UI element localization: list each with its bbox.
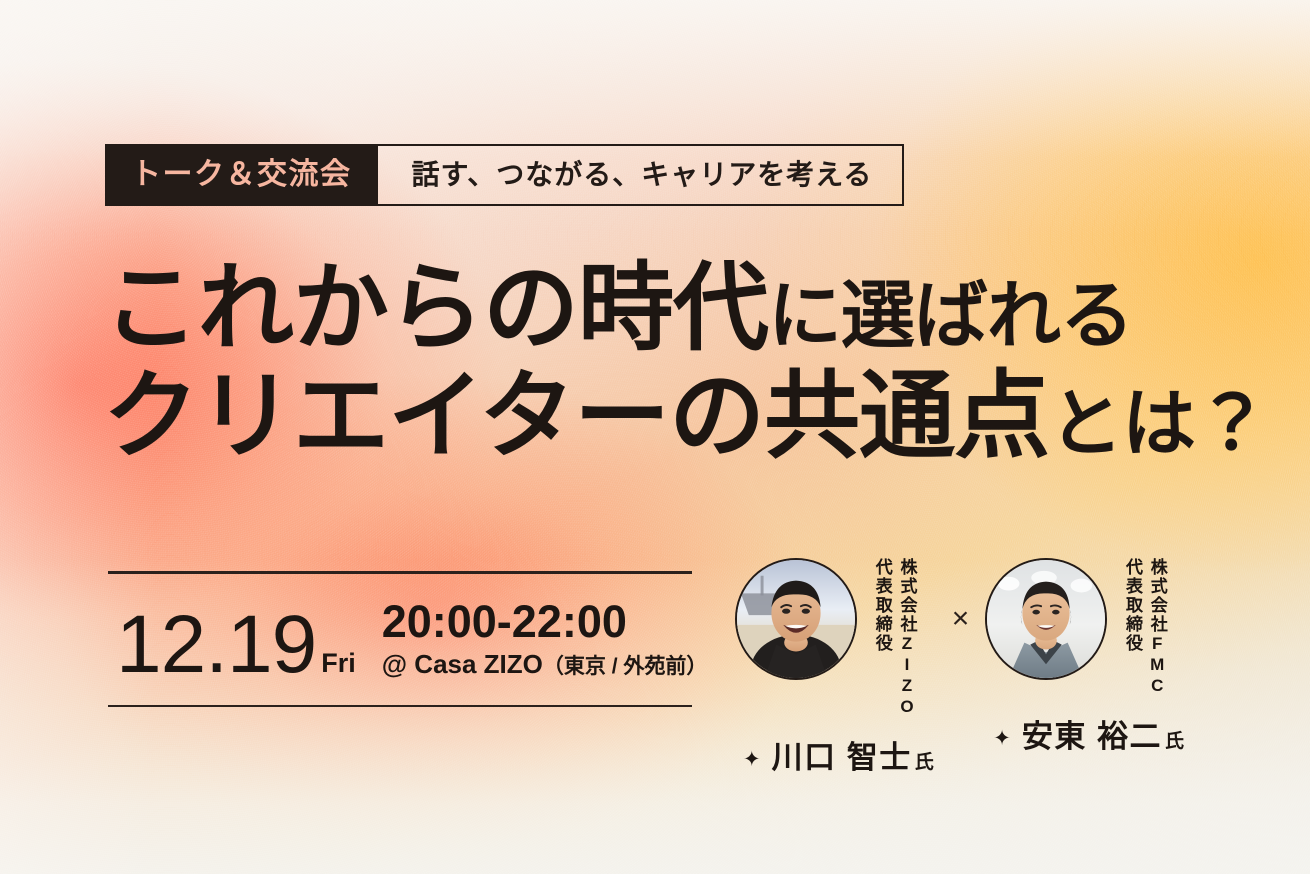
- avatar: [985, 558, 1107, 680]
- tagline-badge: 話す、つながる、キャリアを考える: [378, 144, 905, 206]
- speaker-role: 代表取締役: [871, 558, 892, 718]
- speaker-title: 株式会社FMC 代表取締役: [1117, 558, 1166, 697]
- sparkle-icon: ✦: [993, 728, 1011, 749]
- speaker-name-suffix: 氏: [915, 747, 934, 774]
- speakers-section: 株式会社ZIZO 代表取締役 ✦ 川口 智士 氏 ×: [735, 558, 1184, 777]
- headline-line-1-tail: に選ばれる: [768, 274, 1133, 357]
- speaker-name: 安東 裕二: [1022, 711, 1162, 756]
- badge-row: トーク＆交流会 話す、つながる、キャリアを考える: [105, 144, 904, 206]
- banner-content: トーク＆交流会 話す、つながる、キャリアを考える これからの時代に選ばれる クリ…: [0, 0, 1310, 874]
- speaker-name-suffix: 氏: [1165, 726, 1184, 753]
- event-venue-area: （東京 / 外苑前）: [543, 655, 708, 678]
- event-banner: トーク＆交流会 話す、つながる、キャリアを考える これからの時代に選ばれる クリ…: [0, 0, 1310, 874]
- speaker-top: 株式会社ZIZO 代表取締役: [735, 558, 916, 718]
- speaker-role: 代表取締役: [1121, 558, 1142, 697]
- avatar: [735, 558, 857, 680]
- headline-line-1: これからの時代に選ばれる: [103, 258, 1268, 360]
- speaker-company: 株式会社ZIZO: [896, 558, 917, 718]
- speaker-name-row: ✦ 安東 裕二 氏: [993, 711, 1184, 756]
- page-title: これからの時代に選ばれる クリエイターの共通点とは？: [103, 258, 1268, 468]
- speaker-name-row: ✦ 川口 智士 氏: [743, 732, 934, 777]
- speaker-top: 株式会社FMC 代表取締役: [985, 558, 1166, 697]
- headline-line-1-emphasis: これからの時代: [103, 255, 768, 362]
- speaker-company: 株式会社FMC: [1146, 558, 1167, 697]
- event-day-of-week: Fri: [321, 650, 356, 677]
- headline-line-2: クリエイターの共通点とは？: [103, 366, 1268, 468]
- sparkle-icon: ✦: [743, 749, 761, 770]
- speaker-title: 株式会社ZIZO 代表取締役: [867, 558, 916, 718]
- headline-line-2-tail: とは？: [1049, 382, 1268, 465]
- speaker-card: 株式会社ZIZO 代表取締役 ✦ 川口 智士 氏: [735, 558, 934, 777]
- event-venue: @ Casa ZIZO（東京 / 外苑前）: [382, 648, 708, 681]
- headline-line-2-emphasis: クリエイターの共通点: [103, 363, 1049, 470]
- category-badge: トーク＆交流会: [105, 144, 378, 206]
- event-date-number: 12.19: [116, 607, 316, 682]
- event-time-venue: 20:00-22:00 @ Casa ZIZO（東京 / 外苑前）: [382, 598, 708, 683]
- event-details-block: 12.19 Fri 20:00-22:00 @ Casa ZIZO（東京 / 外…: [108, 571, 692, 707]
- event-date: 12.19 Fri: [116, 607, 356, 682]
- speaker-card: 株式会社FMC 代表取締役 ✦ 安東 裕二 氏: [985, 558, 1184, 756]
- event-venue-name: @ Casa ZIZO: [382, 649, 543, 679]
- speaker-separator-icon: ×: [952, 604, 970, 634]
- divider-bottom: [108, 705, 692, 708]
- speaker-name: 川口 智士: [772, 732, 912, 777]
- event-details-inner: 12.19 Fri 20:00-22:00 @ Casa ZIZO（東京 / 外…: [108, 574, 692, 705]
- event-time: 20:00-22:00: [382, 598, 708, 646]
